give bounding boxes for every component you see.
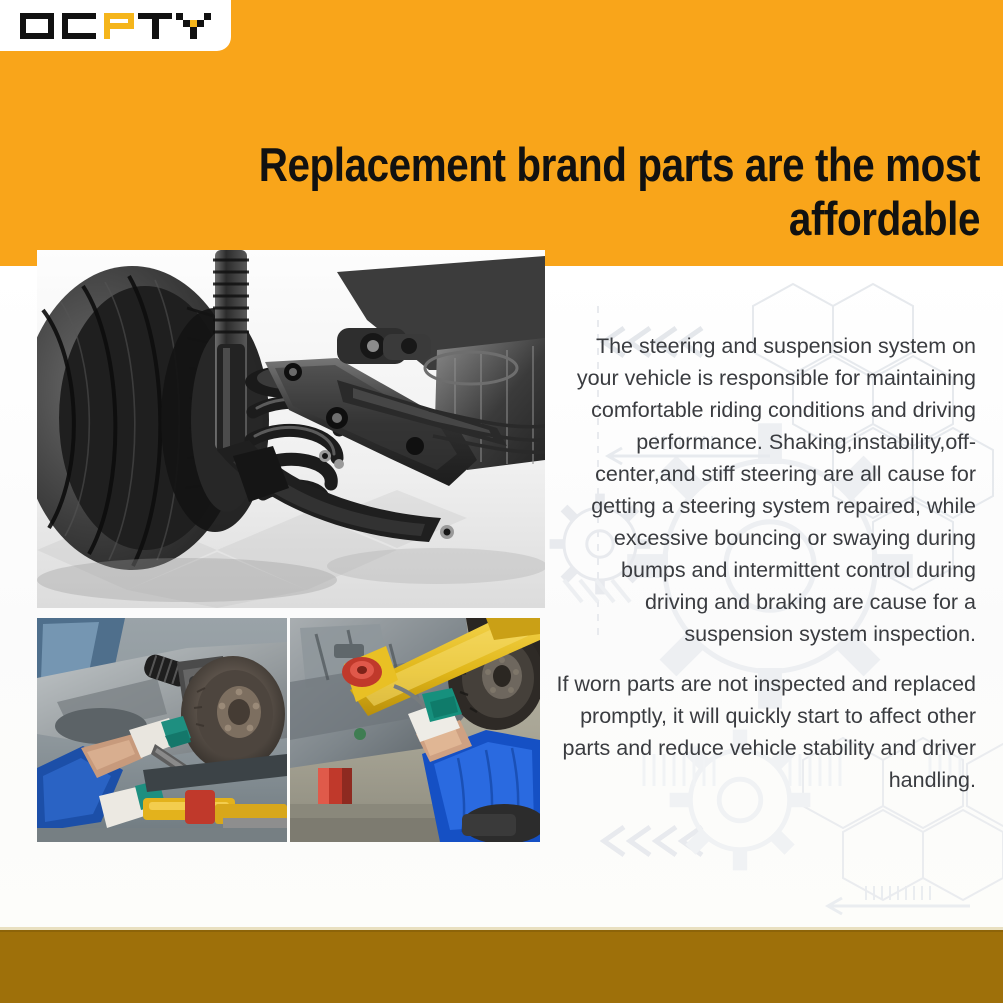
main-suspension-photo xyxy=(37,250,545,608)
mechanic-lift-photo xyxy=(290,618,540,842)
paragraph-2: If worn parts are not inspected and repl… xyxy=(556,668,976,796)
brand-logo-plate xyxy=(0,0,231,51)
ocpty-logo-icon xyxy=(20,9,216,43)
paragraph-1: The steering and suspension system on yo… xyxy=(556,330,976,650)
description-copy: The steering and suspension system on yo… xyxy=(556,330,976,796)
promo-banner: Replacement brand parts are the most aff… xyxy=(0,0,1003,1003)
footer-gold-band xyxy=(0,930,1003,1003)
headline-line-1: Replacement brand parts are the most aff… xyxy=(180,138,980,246)
mechanic-brake-photo xyxy=(37,618,287,842)
